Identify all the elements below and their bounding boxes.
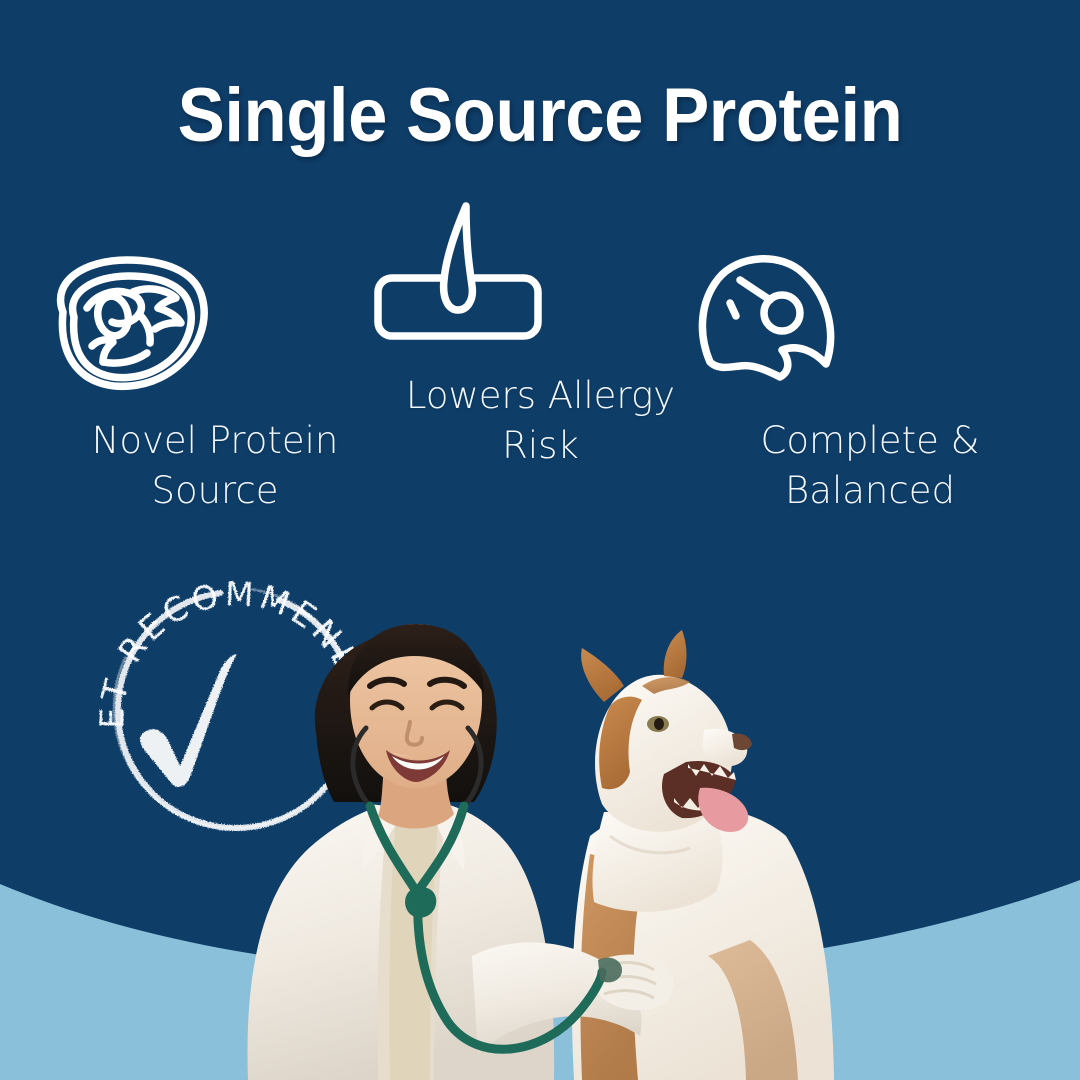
feature-label-line2: Balanced xyxy=(785,469,955,512)
feature-novel-protein-source: Novel Protein Source xyxy=(35,250,395,517)
feature-label-line1: Novel Protein xyxy=(92,419,339,462)
checkmark-icon xyxy=(140,654,237,787)
feature-label: Lowers Allergy Risk xyxy=(368,371,713,472)
gauge-icon xyxy=(690,250,1050,400)
feature-label-line2: Risk xyxy=(502,424,579,467)
feature-complete-and-balanced: Complete & Balanced xyxy=(690,250,1050,517)
feature-label: Novel Protein Source xyxy=(35,416,395,517)
feature-label: Complete & Balanced xyxy=(690,416,1050,517)
vet-and-dog-photo xyxy=(238,536,858,1080)
feature-row: Novel Protein Source Lowers Allergy Risk xyxy=(0,195,1080,525)
feature-label-line1: Lowers Allergy xyxy=(406,374,675,417)
page-title: Single Source Protein xyxy=(38,72,1042,159)
hair-follicle-icon xyxy=(368,200,713,355)
marketing-graphic: Single Source Protein xyxy=(0,0,1080,1080)
feature-label-line1: Complete & xyxy=(761,419,980,462)
feature-lowers-allergy-risk: Lowers Allergy Risk xyxy=(368,200,713,472)
steak-icon xyxy=(35,250,395,400)
feature-label-line2: Source xyxy=(151,469,278,512)
